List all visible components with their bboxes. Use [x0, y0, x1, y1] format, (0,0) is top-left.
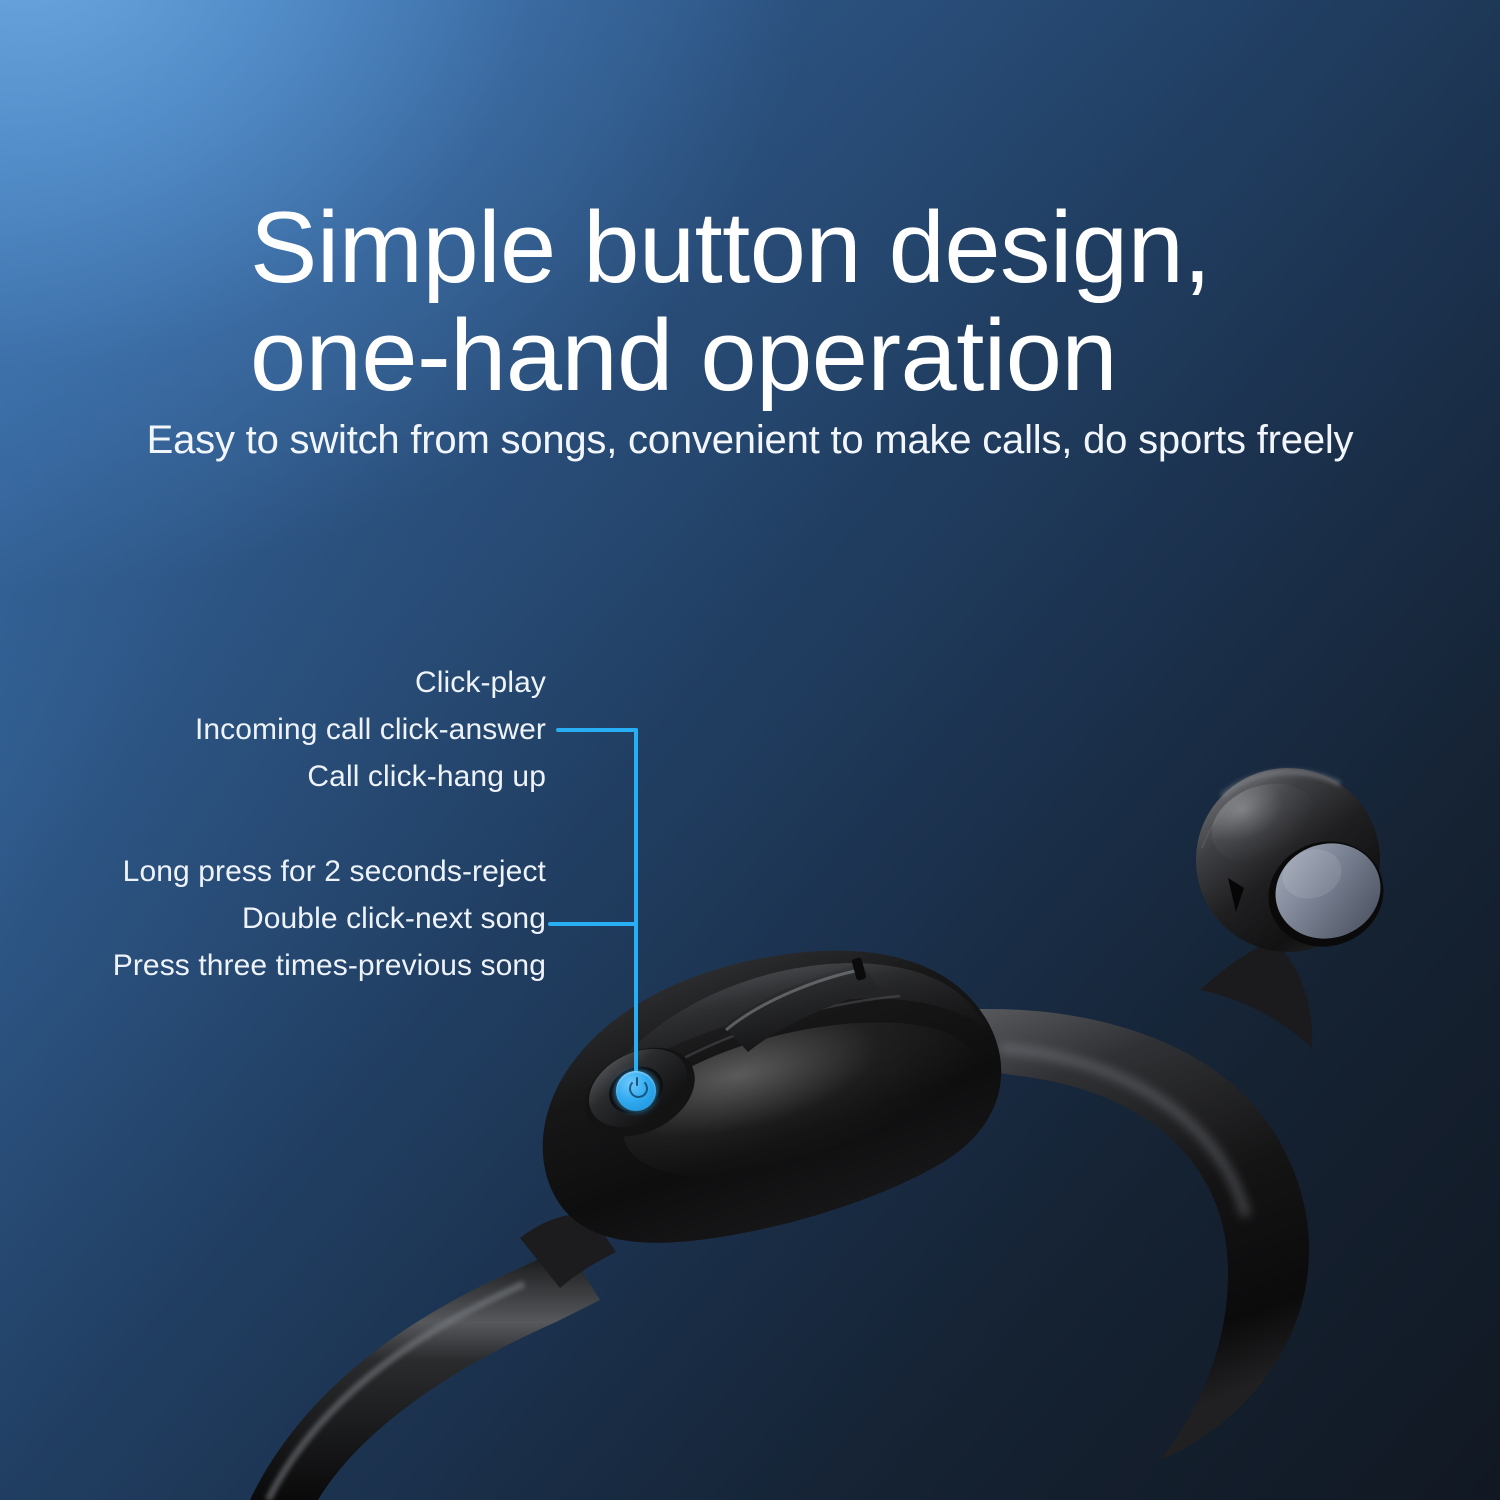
earbud-driver-housing — [1196, 768, 1397, 961]
connector-line-horizontal-bottom — [548, 922, 638, 926]
annotation-label-incoming-call: Incoming call click-answer — [195, 713, 546, 747]
annotation-label-call-hang-up: Call click-hang up — [307, 760, 546, 794]
power-icon — [629, 1079, 648, 1098]
annotation-label-click-play: Click-play — [415, 666, 546, 700]
page-subtitle: Easy to switch from songs, convenient to… — [0, 418, 1500, 463]
connector-line-vertical — [634, 728, 638, 1092]
page-title: Simple button design, one-hand operation — [250, 194, 1330, 410]
annotation-label-long-press-reject: Long press for 2 seconds-reject — [123, 855, 546, 889]
product-feature-slide: Simple button design, one-hand operation… — [0, 0, 1500, 1500]
annotation-label-press-three-previous: Press three times-previous song — [113, 949, 546, 983]
headline-line-1: Simple button design, — [250, 192, 1211, 304]
annotation-label-double-click-next: Double click-next song — [242, 902, 546, 936]
headline-line-2: one-hand operation — [250, 302, 1330, 410]
neckband-cable — [250, 1246, 600, 1500]
connector-line-horizontal-top — [556, 728, 638, 732]
earhook-arm — [950, 1009, 1309, 1460]
